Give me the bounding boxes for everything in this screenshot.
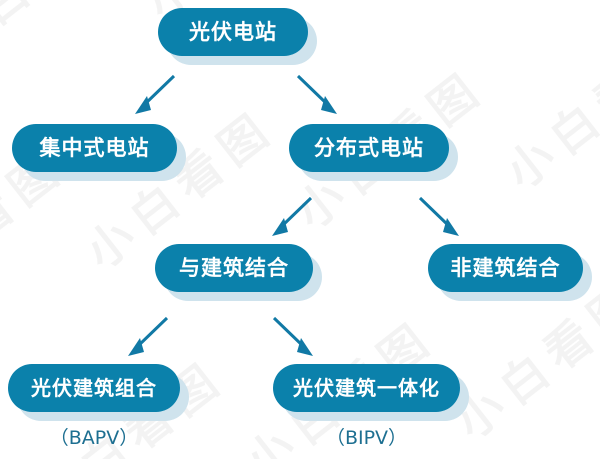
node-label: 分布式电站 — [314, 138, 424, 159]
node-label: 光伏电站 — [189, 22, 277, 43]
node-with-building[interactable]: 与建筑结合 — [155, 244, 313, 292]
arrow-pv-to-centralized — [125, 70, 185, 120]
node-pill: 非建筑结合 — [428, 244, 583, 292]
node-distributed-station[interactable]: 分布式电站 — [289, 124, 449, 172]
watermark-text: 小白看图 — [490, 12, 600, 202]
node-bapv[interactable]: 光伏建筑组合 — [8, 364, 180, 412]
arrow-with-building-to-bipv — [266, 312, 326, 362]
node-pill: 分布式电站 — [289, 124, 449, 172]
node-bipv[interactable]: 光伏建筑一体化 — [273, 364, 460, 412]
node-non-building[interactable]: 非建筑结合 — [428, 244, 583, 292]
flowchart-canvas: 小白看图 小白看图 小白看图 小白看图 小白看图 小白看图 小白看图 小白看图 … — [0, 0, 600, 459]
node-label: 光伏建筑组合 — [31, 378, 157, 398]
node-label: 集中式电站 — [40, 138, 150, 159]
caption-bapv: （BAPV） — [8, 423, 180, 450]
node-label: 非建筑结合 — [451, 258, 561, 279]
node-pill: 光伏电站 — [158, 8, 308, 56]
node-pill: 光伏建筑组合 — [8, 364, 180, 412]
node-label: 与建筑结合 — [179, 258, 289, 279]
node-pill: 光伏建筑一体化 — [273, 364, 460, 412]
node-label: 光伏建筑一体化 — [293, 378, 440, 398]
node-pv-power-station[interactable]: 光伏电站 — [158, 8, 308, 56]
node-pill: 与建筑结合 — [155, 244, 313, 292]
arrow-distributed-to-non-building — [412, 192, 472, 242]
arrow-pv-to-distributed — [290, 70, 350, 120]
node-pill: 集中式电站 — [12, 124, 177, 172]
caption-bipv: （BIPV） — [273, 423, 460, 450]
node-centralized-station[interactable]: 集中式电站 — [12, 124, 177, 172]
arrow-distributed-to-with-building — [262, 192, 322, 242]
arrow-with-building-to-bapv — [118, 312, 178, 362]
watermark-text: 小白看图 — [0, 0, 137, 72]
